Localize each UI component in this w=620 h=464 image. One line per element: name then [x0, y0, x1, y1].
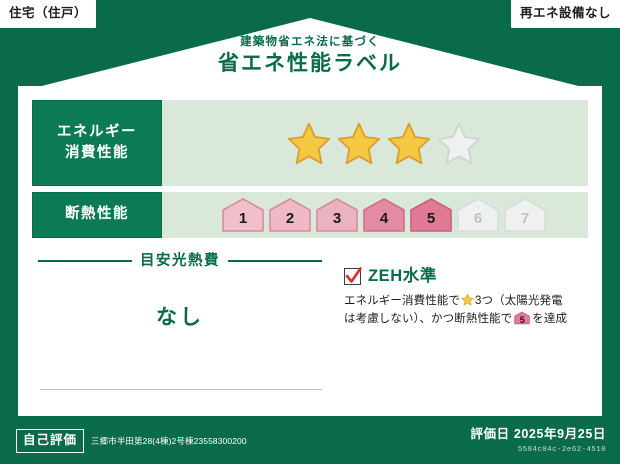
- zeh-desc-part1: エネルギー消費性能で: [344, 295, 460, 307]
- building-type-tag: 住宅（住戸）: [0, 0, 96, 28]
- cost-value: なし: [32, 301, 328, 331]
- star-icon-filled-2: [336, 120, 382, 166]
- evaluation-date: 評価日 2025年9月25日: [470, 428, 606, 441]
- title-block: 建築物省エネ法に基づく 省エネ性能ラベル: [0, 36, 620, 77]
- zeh-desc-part2: は考慮しない）、かつ断熱性能で: [344, 313, 512, 325]
- evaluation-date-label: 評価日: [470, 427, 509, 441]
- energy-performance-row: エネルギー 消費性能: [32, 100, 588, 186]
- insulation-level-7: 7: [503, 197, 547, 233]
- star-icon-empty-4: [436, 120, 482, 166]
- zeh-head: ZEH水準: [344, 268, 584, 285]
- insulation-level-1: 1: [221, 197, 265, 233]
- insulation-head-label: 断熱性能: [65, 204, 129, 225]
- insulation-level-6-label: 6: [474, 211, 482, 233]
- house-icon-inline-label: 5: [514, 313, 530, 327]
- energy-head-line2: 消費性能: [65, 143, 129, 164]
- insulation-level-3-label: 3: [333, 211, 341, 233]
- insulation-performance-row: 断熱性能 1 2 3: [32, 192, 588, 238]
- insulation-performance-head: 断熱性能: [32, 192, 162, 238]
- label-body: エネルギー 消費性能 断熱性能 1: [18, 86, 602, 416]
- evaluation-id: 5584c04c-2e62-4510: [470, 447, 606, 455]
- star-icon-filled-1: [286, 120, 332, 166]
- zeh-section: ZEH水準 エネルギー消費性能で3つ（太陽光発電は考慮しない）、かつ断熱性能で5…: [328, 248, 588, 402]
- energy-performance-body: [162, 100, 588, 186]
- cost-rule-right: [228, 260, 322, 262]
- title-subtitle: 建築物省エネ法に基づく: [0, 36, 620, 49]
- cost-title: 目安光熱費: [140, 254, 220, 269]
- property-address: 三郷市半田第28(4棟)2号棟23558300200: [91, 437, 247, 446]
- energy-performance-head: エネルギー 消費性能: [32, 100, 162, 186]
- insulation-level-2: 2: [268, 197, 312, 233]
- label-footer: 自己評価 三郷市半田第28(4棟)2号棟23558300200 評価日 2025…: [0, 416, 620, 464]
- check-icon: [344, 266, 363, 288]
- zeh-desc-part3: を達成: [532, 313, 567, 325]
- zeh-checkbox[interactable]: [344, 268, 361, 285]
- zeh-title: ZEH水準: [368, 268, 437, 285]
- insulation-level-5-label: 5: [427, 211, 435, 233]
- zeh-description: エネルギー消費性能で3つ（太陽光発電は考慮しない）、かつ断熱性能で5を達成: [344, 292, 584, 331]
- self-evaluation-badge: 自己評価: [16, 429, 84, 453]
- zeh-desc-stars: 3つ（太陽光発電: [475, 295, 563, 307]
- star-icon-filled-3: [386, 120, 432, 166]
- insulation-level-4-label: 4: [380, 211, 388, 233]
- insulation-performance-body: 1 2 3 4: [162, 192, 588, 238]
- star-rating: [286, 120, 482, 166]
- renewable-equipment-tag: 再エネ設備なし: [511, 0, 620, 28]
- footer-right: 評価日 2025年9月25日 5584c04c-2e62-4510: [470, 428, 606, 454]
- insulation-level-6: 6: [456, 197, 500, 233]
- footer-left: 自己評価 三郷市半田第28(4棟)2号棟23558300200: [16, 429, 247, 453]
- insulation-level-2-label: 2: [286, 211, 294, 233]
- energy-performance-label: 建築物省エネ法に基づく 省エネ性能ラベル 住宅（住戸） 再エネ設備なし エネルギ…: [0, 0, 620, 464]
- insulation-level-7-label: 7: [521, 211, 529, 233]
- cost-title-row: 目安光熱費: [32, 254, 328, 269]
- cost-bottom-divider: [40, 389, 322, 391]
- insulation-level-scale: 1 2 3 4: [221, 197, 547, 233]
- lower-section: 目安光熱費 なし ZEH水準 エネルギー消費性能で3つ（太陽光発電は考慮しない）…: [32, 248, 588, 402]
- house-icon-inline: 5: [514, 311, 530, 331]
- insulation-level-3: 3: [315, 197, 359, 233]
- page-title: 省エネ性能ラベル: [0, 51, 620, 77]
- insulation-level-1-label: 1: [239, 211, 247, 233]
- insulation-level-4: 4: [362, 197, 406, 233]
- cost-rule-left: [38, 260, 132, 262]
- energy-head-line1: エネルギー: [57, 122, 137, 143]
- label-header: 建築物省エネ法に基づく 省エネ性能ラベル 住宅（住戸） 再エネ設備なし: [0, 0, 620, 92]
- evaluation-date-value: 2025年9月25日: [514, 427, 606, 441]
- insulation-level-5: 5: [409, 197, 453, 233]
- star-icon-inline: [461, 293, 474, 306]
- estimated-utility-cost-box: 目安光熱費 なし: [32, 248, 328, 402]
